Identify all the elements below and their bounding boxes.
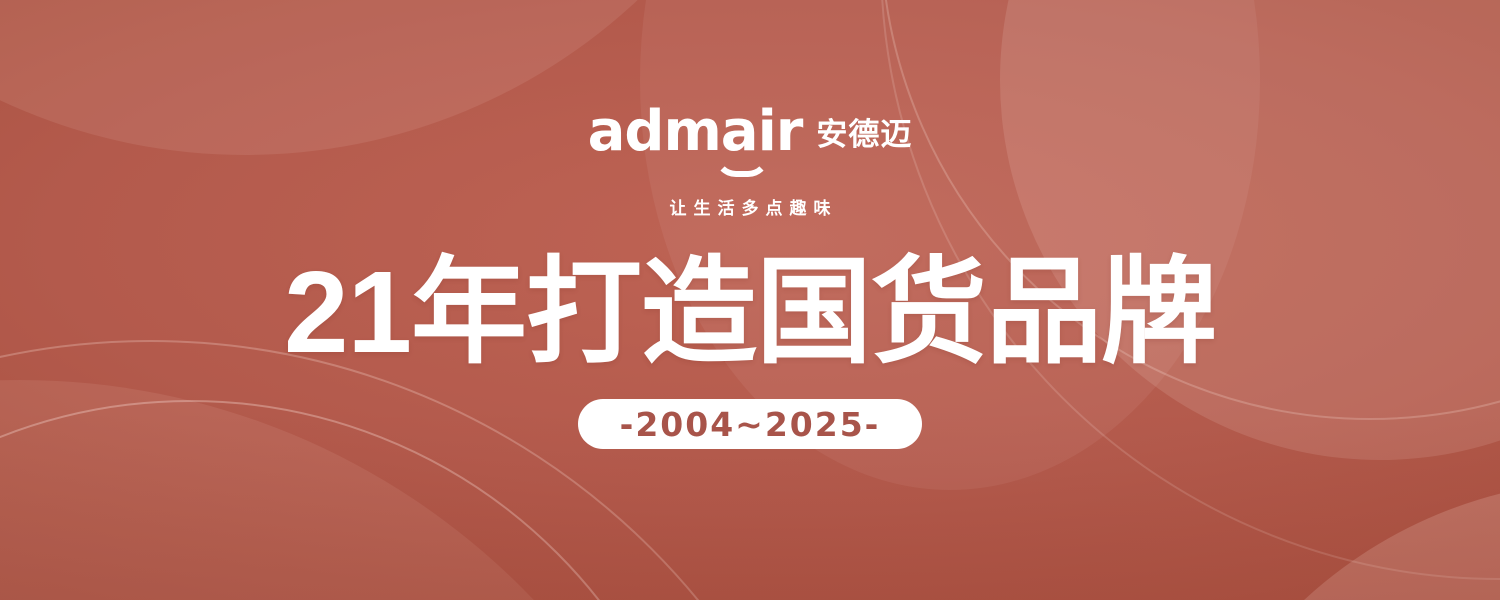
year-range-badge: -2004~2025- (578, 399, 922, 449)
brand-logo: admair 安德迈 (588, 104, 913, 160)
headline-text: 21年打造国货品牌 (284, 253, 1216, 371)
banner-content: admair 安德迈 让生活多点趣味 21年打造国货品牌 -2004~2025- (0, 0, 1500, 600)
logo-wordmark: admair (588, 104, 803, 160)
logo-brand-cn: 安德迈 (816, 119, 912, 150)
brand-tagline: 让生活多点趣味 (663, 194, 838, 219)
logo-wordmark-text: admair (588, 104, 803, 160)
promo-banner: admair 安德迈 让生活多点趣味 21年打造国货品牌 -2004~2025- (0, 0, 1500, 600)
smile-curve-icon (714, 155, 770, 177)
